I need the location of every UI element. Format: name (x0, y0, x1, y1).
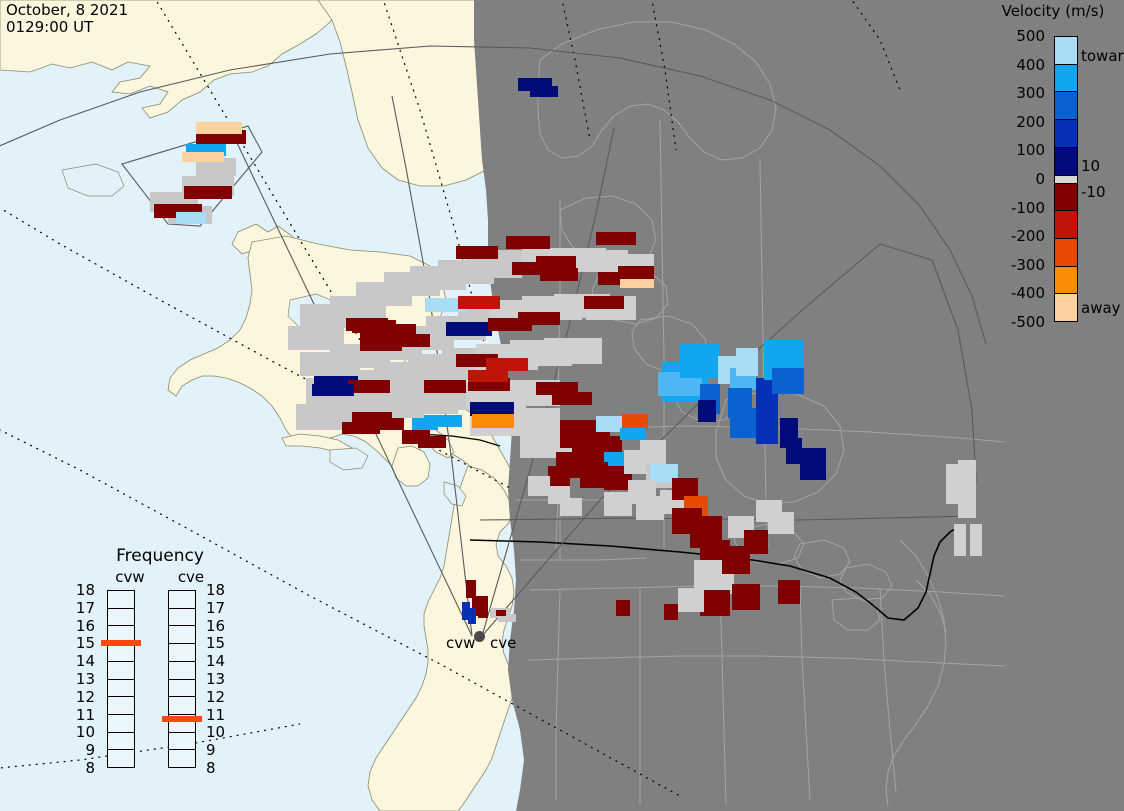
colorbar-tick-500: 500 (1016, 27, 1045, 45)
frequency-tick-cve-13: 13 (206, 670, 228, 688)
frequency-cell (169, 697, 195, 715)
frequency-tick-cve-16: 16 (206, 617, 228, 635)
frequency-cell (169, 662, 195, 680)
colorbar-tick--500: -500 (1011, 313, 1045, 331)
frequency-tick-cvw-10: 10 (73, 723, 95, 741)
colorbar-tick-200: 200 (1016, 113, 1045, 131)
colorbar-label-toward: toward (1081, 47, 1124, 65)
colorbar-tick--300: -300 (1011, 256, 1045, 274)
frequency-tick-cve-9: 9 (206, 741, 228, 759)
colorbar-label-ten: 10 (1081, 157, 1100, 175)
colorbar-label-minus-ten: -10 (1081, 183, 1106, 201)
colorbar-tick--200: -200 (1011, 227, 1045, 245)
frequency-cell (108, 680, 134, 698)
frequency-tick-cve-11: 11 (206, 706, 228, 724)
frequency-tick-cve-18: 18 (206, 581, 228, 599)
frequency-cell (108, 750, 134, 767)
colorbar-tick-400: 400 (1016, 56, 1045, 74)
radar-site-marker[interactable] (474, 631, 485, 642)
frequency-tick-cve-8: 8 (206, 759, 228, 777)
site-label-cve: cve (490, 634, 516, 652)
colorbar-tick--100: -100 (1011, 199, 1045, 217)
frequency-tick-cvw-17: 17 (73, 599, 95, 617)
frequency-tick-cve-17: 17 (206, 599, 228, 617)
frequency-tick-cvw-15: 15 (73, 634, 95, 652)
colorbar-segment-2 (1055, 91, 1077, 119)
frequency-ticks-cve: 18171615141312111098 (206, 590, 228, 768)
frequency-bar-cve[interactable] (168, 590, 196, 768)
colorbar-segment-3 (1055, 119, 1077, 147)
frequency-marker-cve (162, 716, 202, 722)
colorbar-segment-10 (1055, 293, 1077, 321)
colorbar-segment-4 (1055, 147, 1077, 175)
colorbar-segment-8 (1055, 238, 1077, 266)
frequency-cell (108, 733, 134, 751)
colorbar-segment-5 (1055, 175, 1077, 183)
frequency-bar-cvw[interactable] (107, 590, 135, 768)
frequency-ticks-cvw: 18171615141312111098 (73, 590, 95, 768)
frequency-cell (169, 609, 195, 627)
site-label-cvw: cvw (446, 634, 475, 652)
frequency-tick-cvw-13: 13 (73, 670, 95, 688)
frequency-legend: Frequency cvw 18171615141312111098 cve 1… (85, 546, 235, 776)
frequency-tick-cvw-18: 18 (73, 581, 95, 599)
frequency-tick-cvw-12: 12 (73, 688, 95, 706)
frequency-tick-cvw-14: 14 (73, 652, 95, 670)
colorbar-tick-0: 0 (1035, 170, 1045, 188)
colorbar-ticks: 5004003002001000-100-200-300-400-500 (997, 36, 1051, 322)
colorbar-tick--400: -400 (1011, 284, 1045, 302)
frequency-tick-cvw-9: 9 (73, 741, 95, 759)
colorbar-segment-0 (1055, 37, 1077, 64)
superdarn-velocity-map: cvw cve October, 8 2021 0129:00 UT Frequ… (0, 0, 1124, 811)
frequency-marker-cvw (101, 640, 141, 646)
frequency-cell (108, 644, 134, 662)
frequency-cell (108, 697, 134, 715)
frequency-cell (108, 715, 134, 733)
frequency-legend-title: Frequency (85, 546, 235, 566)
frequency-tick-cvw-16: 16 (73, 617, 95, 635)
colorbar-side-labels: toward 10 -10 away (1081, 36, 1124, 322)
frequency-tick-cve-10: 10 (206, 723, 228, 741)
frequency-tick-cve-12: 12 (206, 688, 228, 706)
frequency-cell (169, 644, 195, 662)
colorbar-tick-300: 300 (1016, 84, 1045, 102)
frequency-cell (108, 609, 134, 627)
colorbar-tick-100: 100 (1016, 141, 1045, 159)
colorbar-segment-9 (1055, 266, 1077, 294)
frequency-column-label-cvw: cvw (107, 568, 153, 586)
frequency-tick-cve-14: 14 (206, 652, 228, 670)
frequency-cell (169, 591, 195, 609)
frequency-cell (108, 662, 134, 680)
frequency-cell (169, 680, 195, 698)
frequency-cell (169, 626, 195, 644)
colorbar-gradient[interactable] (1054, 36, 1078, 322)
colorbar-title: Velocity (m/s) (983, 2, 1123, 20)
timestamp-label: October, 8 2021 0129:00 UT (6, 2, 128, 36)
frequency-tick-cvw-11: 11 (73, 706, 95, 724)
map-canvas[interactable]: cvw cve October, 8 2021 0129:00 UT Frequ… (0, 0, 1005, 811)
colorbar-segment-7 (1055, 210, 1077, 238)
velocity-colorbar-panel: Velocity (m/s) 5004003002001000-100-200-… (1005, 0, 1124, 811)
frequency-tick-cvw-8: 8 (73, 759, 95, 777)
colorbar-label-away: away (1081, 299, 1121, 317)
colorbar-segment-1 (1055, 64, 1077, 92)
frequency-tick-cve-15: 15 (206, 634, 228, 652)
frequency-cell (108, 591, 134, 609)
colorbar-segment-6 (1055, 183, 1077, 211)
frequency-cell (169, 750, 195, 767)
frequency-cell (169, 733, 195, 751)
